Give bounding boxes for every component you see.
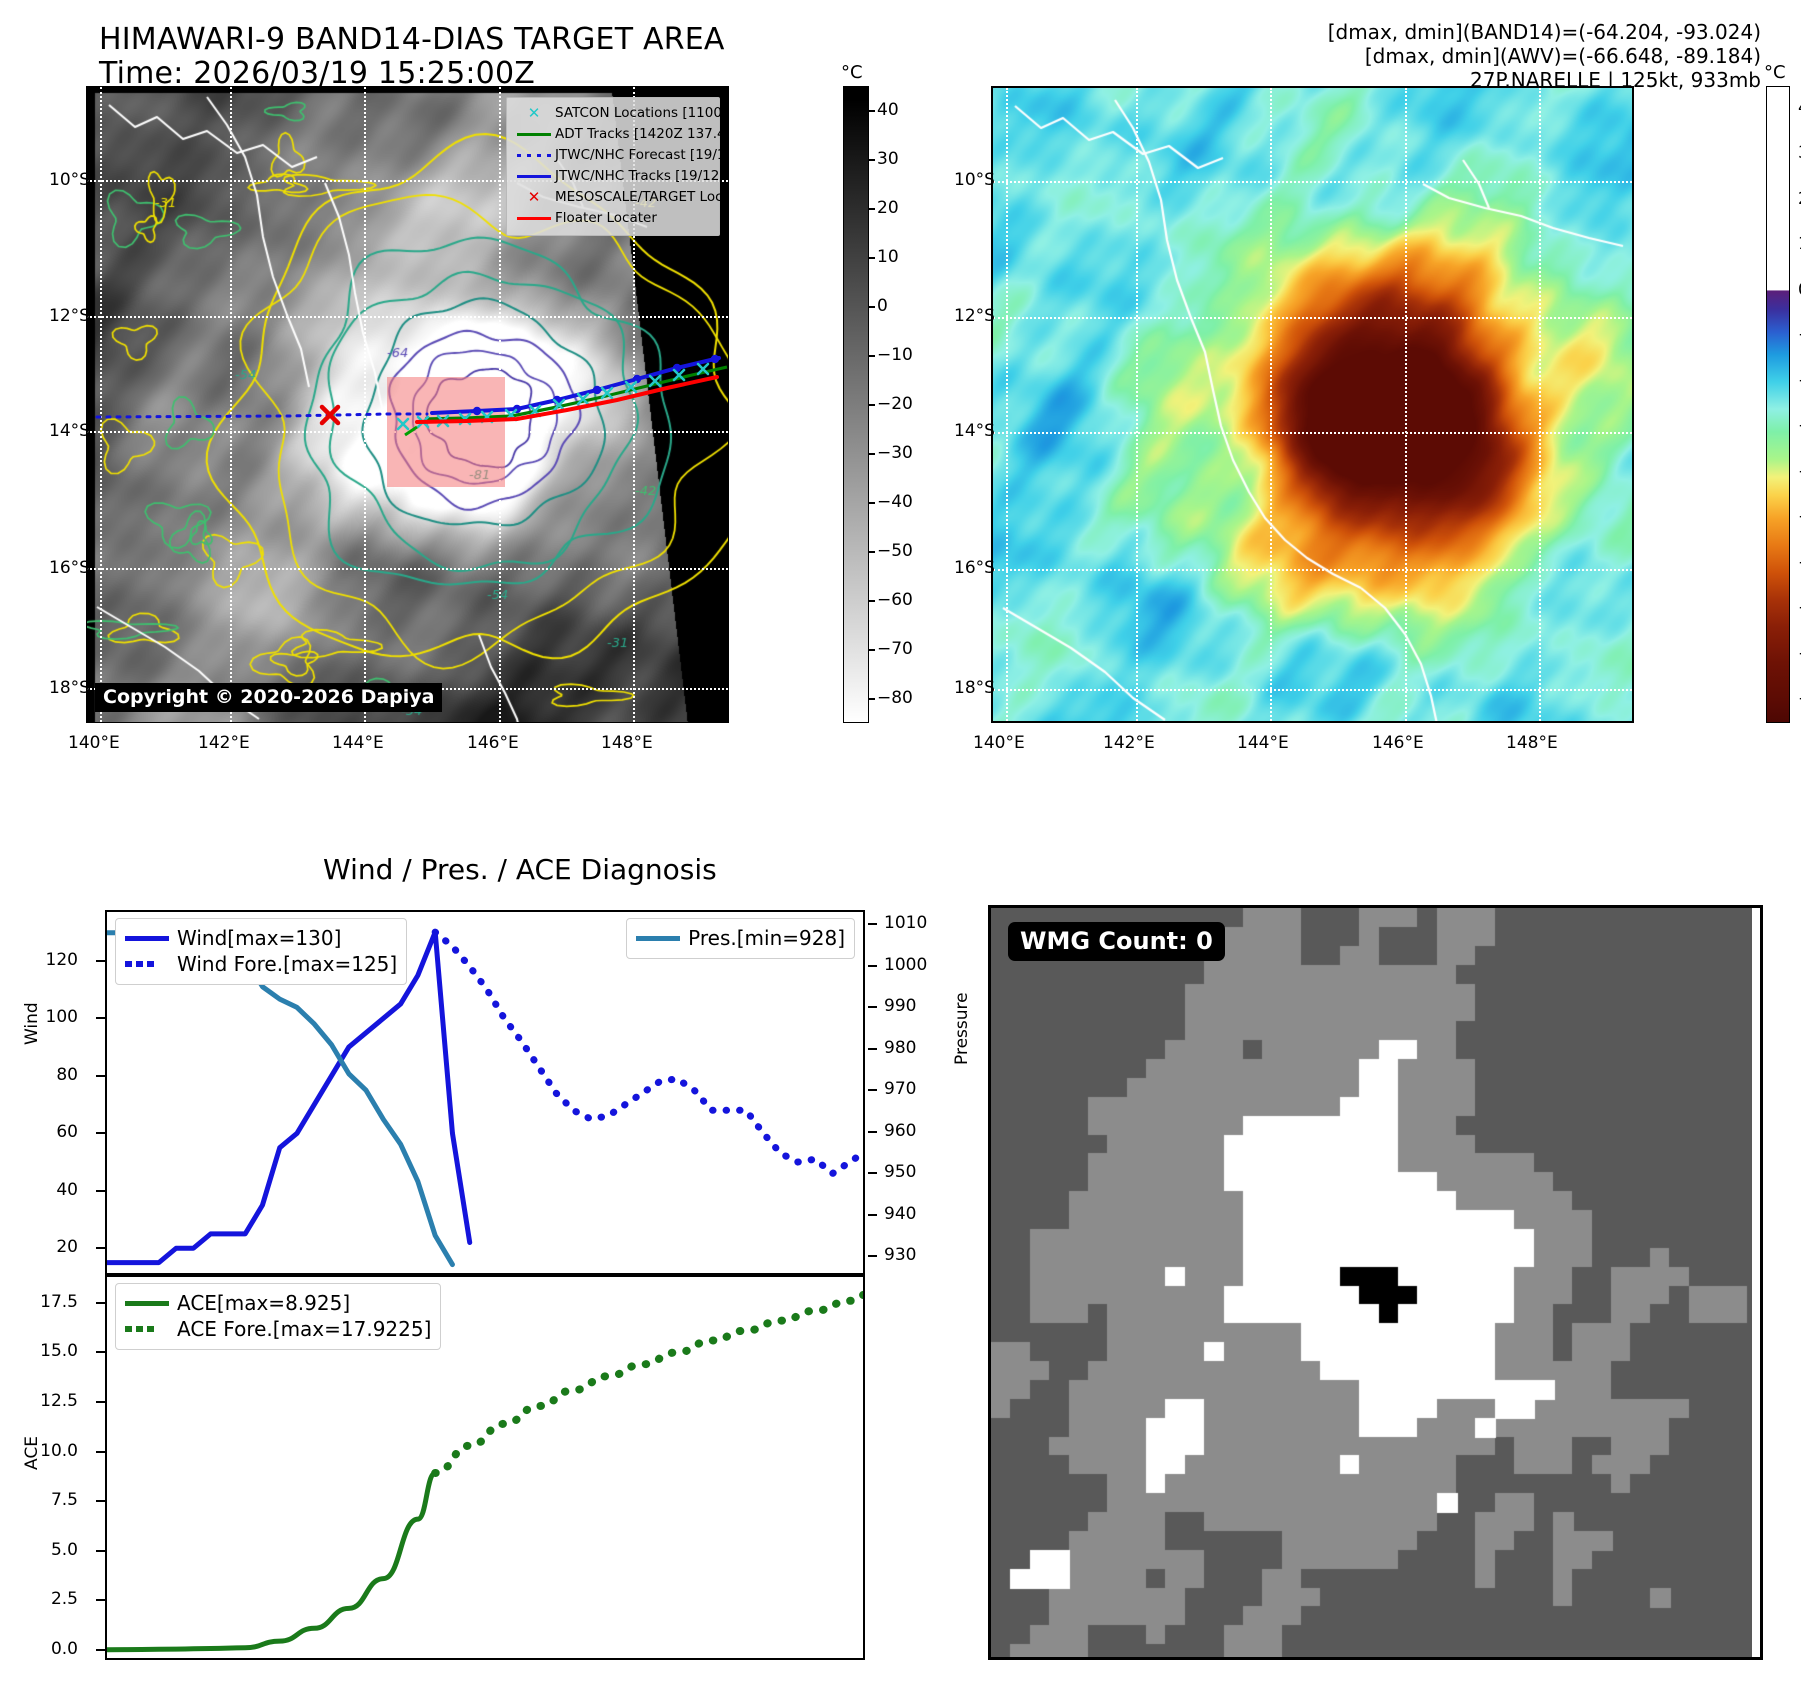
pressure-tick-label: 950: [884, 1162, 944, 1182]
pressure-tick-label: 930: [884, 1245, 944, 1265]
pressure-tick-label: 1000: [884, 955, 944, 975]
ir-enhanced-panel[interactable]: [991, 86, 1634, 723]
diagnosis-title: Wind / Pres. / ACE Diagnosis: [323, 853, 717, 886]
legend-item-jtwc-nhc-tracks[interactable]: JTWC/NHC Tracks [19/1200Z]: [513, 166, 713, 187]
pressure-tickmark: [868, 1006, 877, 1008]
ace-legend[interactable]: ACE[max=8.925] ACE Fore.[max=17.9225]: [115, 1283, 441, 1350]
wind-legend[interactable]: Wind[max=130] Wind Fore.[max=125]: [115, 918, 407, 985]
lon-tick-148e: 148°E: [1506, 733, 1558, 753]
lon-tick-148e: 148°E: [601, 733, 653, 753]
ace-tickmark: [96, 1599, 105, 1601]
gridline-lon-144e: [1270, 88, 1272, 721]
lat-tick-12s: 12°S: [49, 306, 90, 326]
wind-tick-label: 40: [20, 1180, 78, 1200]
dotted-line-icon: [513, 154, 555, 157]
colorbar-gray-tick: −30: [877, 443, 913, 463]
pressure-tick-label: 940: [884, 1204, 944, 1224]
awv-dmax-dmin: [dmax, dmin](AWV)=(-66.648, -89.184): [1365, 44, 1761, 68]
ace-tick-label: 17.5: [20, 1292, 78, 1312]
lon-tick-144e: 144°E: [332, 733, 384, 753]
colorbar-gray-tick: 40: [877, 100, 899, 120]
ace-tickmark: [96, 1401, 105, 1403]
colorbar-gray-tick: 30: [877, 149, 899, 169]
map-legend[interactable]: ✕ SATCON Locations [1100Z 143 920] ADT T…: [506, 97, 720, 236]
legend-label: MESOSCALE/TARGET Location: [555, 191, 729, 205]
wind-tickmark: [96, 1247, 105, 1249]
ace-tickmark: [96, 1500, 105, 1502]
gridline-lon-146e: [1405, 88, 1407, 721]
lat-tick-10s: 10°S: [954, 170, 995, 190]
gridline-lat-16s: [993, 569, 1632, 571]
series-wind-fore-: [435, 932, 865, 1173]
gridline-lat-10s: [993, 181, 1632, 183]
pressure-tickmark: [868, 1089, 877, 1091]
legend-label: JTWC/NHC Forecast [19/1200Z]: [555, 149, 729, 163]
colorbar-gray-tick: −70: [877, 639, 913, 659]
wind-tick-label: 80: [20, 1065, 78, 1085]
colorbar-gray-tickmark: [869, 257, 875, 259]
lon-tick-140e: 140°E: [68, 733, 120, 753]
pressure-tickmark: [868, 965, 877, 967]
lat-tick-16s: 16°S: [954, 558, 995, 578]
solid-line-icon: [125, 1301, 177, 1306]
band14-dmax-dmin: [dmax, dmin](BAND14)=(-64.204, -93.024): [1328, 20, 1761, 44]
wmg-right-margin: [1752, 908, 1760, 1657]
line-icon: [513, 217, 555, 220]
ace-tick-label: 15.0: [20, 1341, 78, 1361]
ace-tickmark: [96, 1550, 105, 1552]
colorbar-gray-tick: −80: [877, 688, 913, 708]
colorbar-gray-tick: −50: [877, 541, 913, 561]
lat-tick-10s: 10°S: [49, 170, 90, 190]
ir-enhanced-image: [993, 88, 1634, 723]
ace-tick-label: 7.5: [20, 1490, 78, 1510]
target-area-box: [387, 377, 505, 487]
ace-tickmark: [96, 1451, 105, 1453]
wmg-panel[interactable]: WMG Count: 0: [988, 905, 1763, 1660]
dotted-line-icon: [125, 961, 177, 967]
legend-item-pressure[interactable]: Pres.[min=928]: [636, 925, 845, 951]
ace-tick-label: 2.5: [20, 1589, 78, 1609]
wind-pressure-chart[interactable]: Wind[max=130] Wind Fore.[max=125] Pres.[…: [105, 910, 865, 1275]
colorbar-gray-tickmark: [869, 208, 875, 210]
ace-tick-label: 10.0: [20, 1441, 78, 1461]
wmg-cloud-cluster-map: [991, 908, 1763, 1660]
colorbar-gray-tick: −60: [877, 590, 913, 610]
cross-icon: ✕: [513, 190, 555, 205]
jtwc-forecast-track: [97, 414, 427, 417]
legend-label: Wind[max=130]: [177, 926, 341, 951]
colorbar-gray-tick: −40: [877, 492, 913, 512]
lon-tick-144e: 144°E: [1237, 733, 1289, 753]
lon-tick-140e: 140°E: [973, 733, 1025, 753]
wind-tickmark: [96, 1017, 105, 1019]
gridline-lat-18s: [993, 689, 1632, 691]
gridline-lon-142e: [1136, 88, 1138, 721]
wind-tickmark: [96, 960, 105, 962]
legend-item-wind-forecast[interactable]: Wind Fore.[max=125]: [125, 951, 397, 977]
gridline-lat-12s: [993, 317, 1632, 319]
legend-label: Floater Locater: [555, 212, 657, 226]
lon-tick-146e: 146°E: [467, 733, 519, 753]
line-icon: [513, 133, 555, 136]
pressure-tick-label: 1010: [884, 913, 944, 933]
lon-tick-142e: 142°E: [198, 733, 250, 753]
jtwc-track-point: [593, 386, 601, 394]
legend-item-jtwc-nhc-forecast[interactable]: JTWC/NHC Forecast [19/1200Z]: [513, 145, 713, 166]
solid-line-icon: [125, 936, 177, 941]
lon-tick-146e: 146°E: [1372, 733, 1424, 753]
pressure-tick-label: 980: [884, 1038, 944, 1058]
pressure-tickmark: [868, 1048, 877, 1050]
legend-label: SATCON Locations [1100Z 143 920]: [555, 107, 729, 121]
line-with-marker-icon: [513, 175, 555, 178]
wind-tickmark: [96, 1075, 105, 1077]
lat-tick-16s: 16°S: [49, 558, 90, 578]
legend-label: ACE Fore.[max=17.9225]: [177, 1317, 431, 1342]
jtwc-track-point: [473, 407, 481, 415]
ace-tick-label: 5.0: [20, 1540, 78, 1560]
cross-icon: ✕: [513, 106, 555, 121]
colorbar-gray-tickmark: [869, 600, 875, 602]
ir-grayscale-panel[interactable]: Copyright © 2020-2026 Dapiya ✕ SATCON Lo…: [86, 86, 729, 723]
colorbar-gray-tickmark: [869, 502, 875, 504]
colorbar-gray-tickmark: [869, 649, 875, 651]
ace-tick-label: 12.5: [20, 1391, 78, 1411]
wind-tick-label: 100: [20, 1007, 78, 1027]
gridline-lon-140e: [1006, 88, 1008, 721]
legend-label: ADT Tracks [1420Z 137.4 921.0]: [555, 128, 729, 142]
colorbar-gray-tickmark: [869, 404, 875, 406]
ace-tickmark: [96, 1302, 105, 1304]
ace-tickmark: [96, 1351, 105, 1353]
lat-tick-12s: 12°S: [954, 306, 995, 326]
legend-label: JTWC/NHC Tracks [19/1200Z]: [555, 170, 729, 184]
jtwc-track-point: [711, 355, 719, 363]
colorbar-gray-tick: 10: [877, 247, 899, 267]
series-ace-fore-: [435, 1294, 865, 1473]
gridline-lat-14s: [993, 432, 1632, 434]
pressure-tickmark: [868, 923, 877, 925]
pressure-tick-label: 990: [884, 996, 944, 1016]
colorbar-gray-tick: −20: [877, 394, 913, 414]
colorbar-gray-tickmark: [869, 551, 875, 553]
pressure-tickmark: [868, 1255, 877, 1257]
colorbar-gray-tick: 20: [877, 198, 899, 218]
pressure-tickmark: [868, 1172, 877, 1174]
wmg-count-badge: WMG Count: 0: [1008, 922, 1225, 961]
copyright-notice: Copyright © 2020-2026 Dapiya: [95, 683, 442, 712]
pressure-tickmark: [868, 1214, 877, 1216]
pressure-tick-label: 970: [884, 1079, 944, 1099]
page-title: HIMAWARI-9 BAND14-DIAS TARGET AREA: [99, 22, 725, 57]
ace-tickmark: [96, 1649, 105, 1651]
lon-tick-142e: 142°E: [1103, 733, 1155, 753]
colorbar-gray-tickmark: [869, 159, 875, 161]
legend-item-ace[interactable]: ACE[max=8.925]: [125, 1290, 431, 1316]
colorbar-enhanced: [1766, 86, 1790, 723]
colorbar-gray-unit: °C: [841, 62, 863, 83]
colorbar-gray-tickmark: [869, 306, 875, 308]
wind-tick-label: 20: [20, 1237, 78, 1257]
solid-line-icon: [636, 936, 688, 941]
pressure-tickmark: [868, 1131, 877, 1133]
legend-label: Pres.[min=928]: [688, 926, 845, 951]
ace-chart[interactable]: ACE[max=8.925] ACE Fore.[max=17.9225]: [105, 1275, 865, 1660]
legend-item-ace-forecast[interactable]: ACE Fore.[max=17.9225]: [125, 1316, 431, 1342]
colorbar-gray-tick: 0: [877, 296, 888, 316]
lat-tick-18s: 18°S: [954, 678, 995, 698]
legend-item-adt-tracks[interactable]: ADT Tracks [1420Z 137.4 921.0]: [513, 124, 713, 145]
lat-tick-14s: 14°S: [49, 421, 90, 441]
pressure-tick-label: 960: [884, 1121, 944, 1141]
colorbar-gray-tick: −10: [877, 345, 913, 365]
wind-tick-label: 120: [20, 950, 78, 970]
series-ace: [107, 1473, 435, 1650]
legend-item-wind[interactable]: Wind[max=130]: [125, 925, 397, 951]
colorbar-gray-tickmark: [869, 453, 875, 455]
legend-item-mesoscale-target-location[interactable]: ✕ MESOSCALE/TARGET Location: [513, 187, 713, 208]
legend-label: Wind Fore.[max=125]: [177, 952, 397, 977]
colorbar-gray-tickmark: [869, 110, 875, 112]
legend-label: ACE[max=8.925]: [177, 1291, 350, 1316]
legend-item-satcon-locations[interactable]: ✕ SATCON Locations [1100Z 143 920]: [513, 103, 713, 124]
dotted-line-icon: [125, 1326, 177, 1332]
lat-tick-18s: 18°S: [49, 678, 90, 698]
pressure-legend[interactable]: Pres.[min=928]: [626, 918, 855, 959]
ace-tick-label: 0.0: [20, 1639, 78, 1659]
colorbar-enhanced-unit: °C: [1764, 62, 1786, 83]
colorbar-grayscale: [843, 86, 869, 723]
wind-tickmark: [96, 1190, 105, 1192]
pressure-axis-title: Pressure: [952, 992, 972, 1065]
dashboard-root: HIMAWARI-9 BAND14-DIAS TARGET AREA Time:…: [0, 0, 1801, 1690]
colorbar-gray-tickmark: [869, 355, 875, 357]
colorbar-gray-tickmark: [869, 698, 875, 700]
wind-tick-label: 60: [20, 1122, 78, 1142]
legend-item-floater-locater[interactable]: Floater Locater: [513, 208, 713, 229]
wind-tickmark: [96, 1132, 105, 1134]
lat-tick-14s: 14°S: [954, 421, 995, 441]
gridline-lon-148e: [1539, 88, 1541, 721]
